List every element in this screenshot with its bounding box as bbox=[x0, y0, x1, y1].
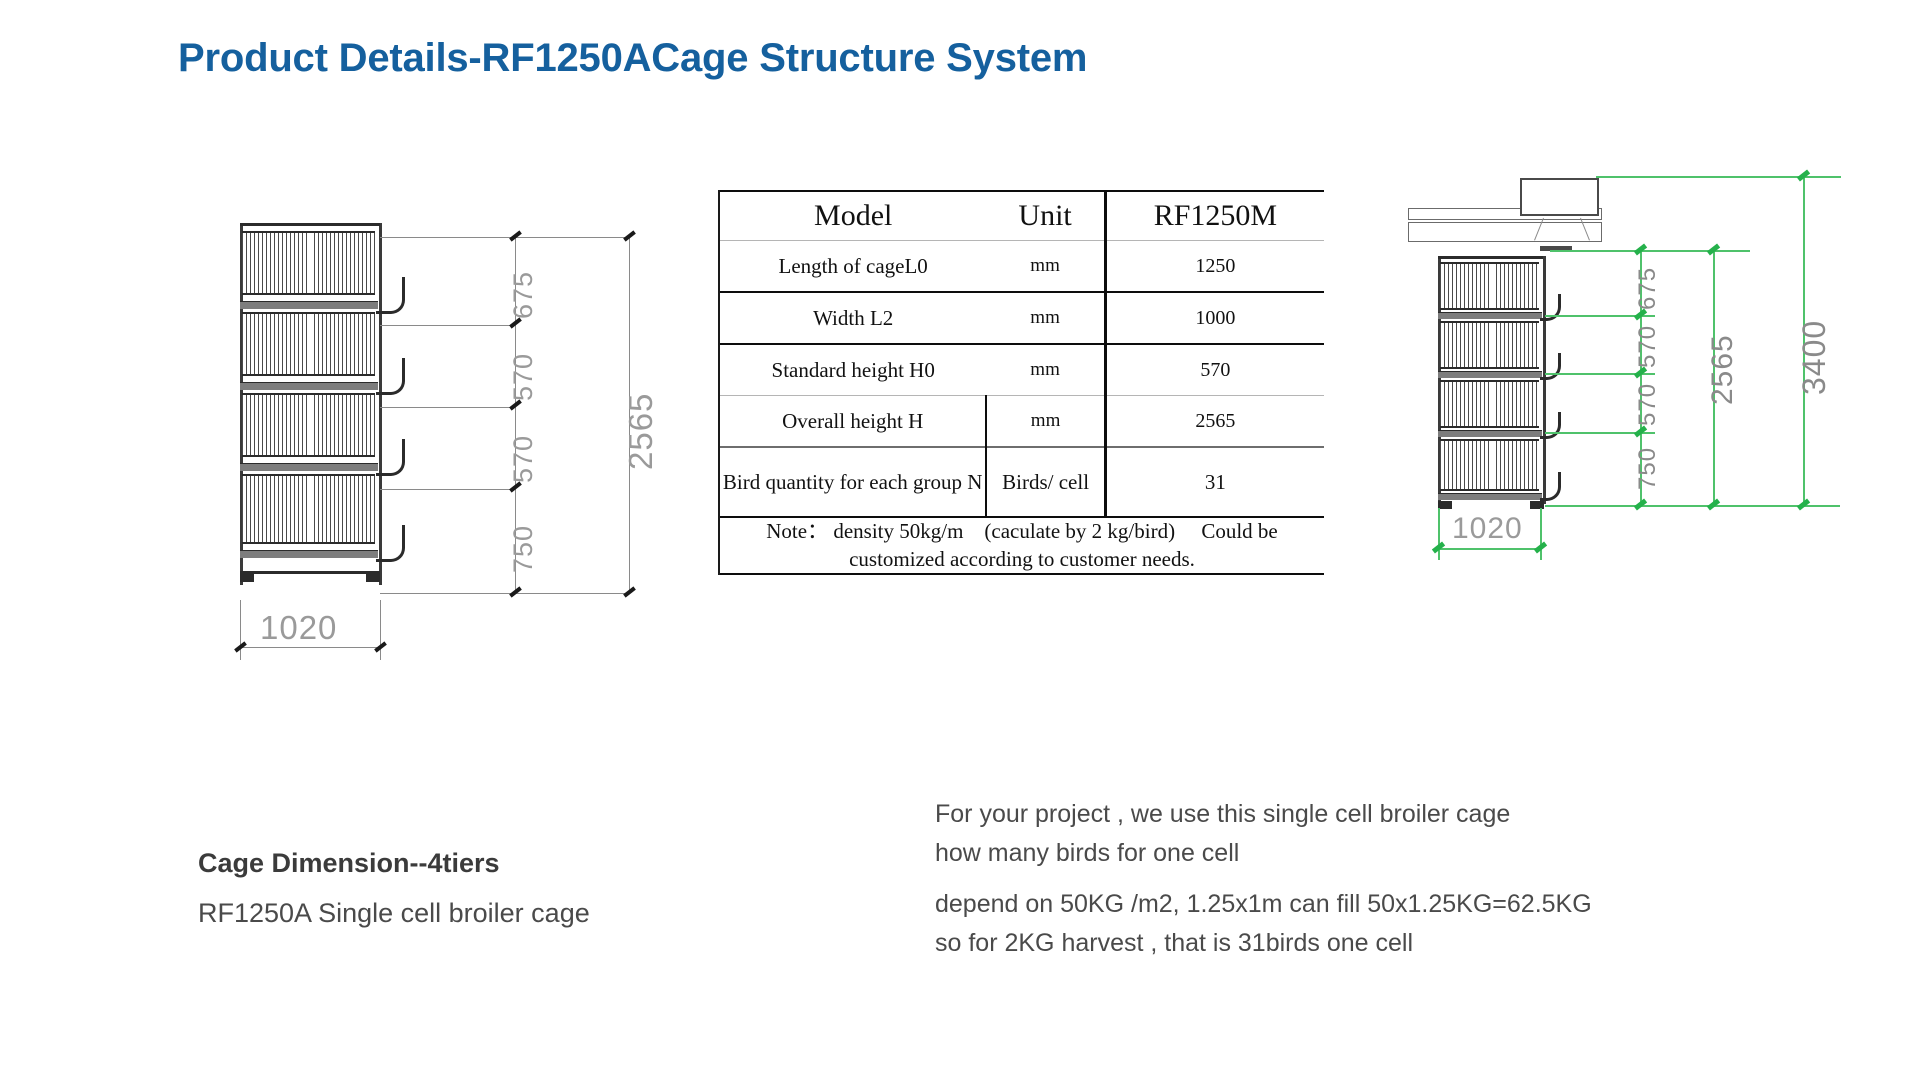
cell-unit: mm bbox=[986, 396, 1105, 448]
cage-hook-2 bbox=[376, 439, 405, 476]
header-unit: Unit bbox=[986, 191, 1105, 241]
paragraph-line-2: how many birds for one cell bbox=[935, 841, 1592, 866]
width-dim-line bbox=[240, 647, 381, 648]
cage-hook-3 bbox=[376, 358, 405, 395]
cage-foot-left-right bbox=[1438, 501, 1452, 509]
table-header-row: Model Unit RF1250M bbox=[720, 191, 1324, 241]
cage-top-rail-right bbox=[1438, 256, 1543, 259]
table-row: Length of cageL0 mm 1250 bbox=[720, 241, 1324, 293]
cage-tier-3 bbox=[242, 312, 375, 376]
cage-tier-2 bbox=[242, 393, 375, 457]
cell-value: 31 bbox=[1105, 447, 1324, 517]
dim-label-overall-2565-right: 2565 bbox=[1706, 334, 1740, 405]
dim-label-675-right: 675 bbox=[1634, 267, 1662, 310]
dim-label-1020-right: 1020 bbox=[1452, 512, 1523, 546]
cage-tier-1-right bbox=[1440, 439, 1539, 491]
cage-tier-3-right bbox=[1440, 321, 1539, 369]
page-title: Product Details-RF1250ACage Structure Sy… bbox=[178, 36, 1087, 81]
cell-model: Bird quantity for each group N bbox=[720, 447, 986, 517]
cage-foot-right bbox=[366, 574, 380, 582]
paragraph-line-1: For your project , we use this single ce… bbox=[935, 802, 1592, 827]
cell-unit: Birds/ cell bbox=[986, 447, 1105, 517]
header-value: RF1250M bbox=[1105, 191, 1324, 241]
cage-tier-4 bbox=[242, 231, 375, 295]
cage-tier-2-right bbox=[1440, 380, 1539, 428]
cage-tray-2 bbox=[240, 463, 378, 471]
green-ext-top bbox=[1550, 250, 1750, 252]
dim-label-3400-right: 3400 bbox=[1796, 320, 1833, 395]
table-row: Width L2 mm 1000 bbox=[720, 292, 1324, 344]
cage-hook-3-right bbox=[1540, 353, 1561, 380]
paragraph-line-4: so for 2KG harvest , that is 31birds one… bbox=[935, 931, 1592, 956]
cage-tray-2-right bbox=[1438, 430, 1542, 437]
extension-line-t2 bbox=[380, 489, 515, 490]
dim-label-1020-left: 1020 bbox=[260, 609, 337, 647]
cage-base-rail bbox=[240, 571, 380, 574]
cell-model: Standard height H0 bbox=[720, 344, 986, 396]
cage-hook-1-right bbox=[1540, 472, 1561, 501]
cage-hook-2-right bbox=[1540, 412, 1561, 439]
dim-label-570a-left: 570 bbox=[508, 435, 539, 483]
cell-model: Overall height H bbox=[720, 396, 986, 448]
table-row: Bird quantity for each group N Birds/ ce… bbox=[720, 447, 1324, 517]
dim-label-overall-2565-left: 2565 bbox=[622, 393, 660, 470]
cell-unit: mm bbox=[986, 241, 1105, 293]
dim-label-570a-right: 570 bbox=[1634, 383, 1662, 426]
explanation-paragraph: For your project , we use this single ce… bbox=[935, 802, 1592, 970]
extension-line-bottom bbox=[380, 593, 630, 594]
dim-label-750-left: 750 bbox=[508, 525, 539, 573]
dim-tick-overall-bottom bbox=[623, 586, 636, 597]
extension-line-t3 bbox=[380, 407, 515, 408]
width-ext-left bbox=[240, 600, 241, 660]
extension-line-t4 bbox=[380, 325, 515, 326]
table-row: Overall height H mm 2565 bbox=[720, 396, 1324, 448]
dim-tick-e bbox=[509, 586, 522, 597]
cell-value: 570 bbox=[1105, 344, 1324, 396]
left-cage-drawing: 750 570 570 675 2565 1020 bbox=[230, 215, 650, 635]
cage-tray-3 bbox=[240, 382, 378, 390]
dim-label-675-left: 675 bbox=[508, 271, 539, 319]
header-model: Model bbox=[720, 191, 986, 241]
cage-top-rail bbox=[240, 223, 380, 226]
overhead-rail-lower bbox=[1408, 222, 1602, 242]
cell-model: Width L2 bbox=[720, 292, 986, 344]
table-note-row: Note： density 50kg/m (caculate by 2 kg/b… bbox=[720, 517, 1324, 574]
cell-unit: mm bbox=[986, 292, 1105, 344]
dim-label-570b-left: 570 bbox=[508, 353, 539, 401]
extension-line-top bbox=[380, 237, 630, 238]
cage-hook-4-right bbox=[1540, 294, 1561, 321]
cell-unit: mm bbox=[986, 344, 1105, 396]
cell-value: 1250 bbox=[1105, 241, 1324, 293]
cage-tray-1-right bbox=[1438, 493, 1542, 500]
cage-tray-4 bbox=[240, 301, 378, 309]
cell-model: Length of cageL0 bbox=[720, 241, 986, 293]
caption-cage-dimension: Cage Dimension--4tiers bbox=[198, 848, 500, 879]
cage-foot-left bbox=[240, 574, 254, 582]
dim-label-570b-right: 570 bbox=[1634, 325, 1662, 368]
paragraph-line-3: depend on 50KG /m2, 1.25x1m can fill 50x… bbox=[935, 892, 1592, 917]
green-width-dim-line bbox=[1438, 548, 1542, 550]
specification-table: Model Unit RF1250M Length of cageL0 mm 1… bbox=[718, 190, 1324, 575]
green-width-ext-right bbox=[1540, 508, 1542, 560]
cage-tray-1 bbox=[240, 550, 378, 558]
cage-hook-1 bbox=[376, 525, 405, 562]
table-note: Note： density 50kg/m (caculate by 2 kg/b… bbox=[720, 517, 1324, 574]
table-bottom-border-row bbox=[720, 574, 1324, 575]
note-line-1: Note： density 50kg/m (caculate by 2 kg/b… bbox=[720, 518, 1324, 546]
table-bottom-border bbox=[720, 574, 1324, 575]
cell-value: 2565 bbox=[1105, 396, 1324, 448]
table-row: Standard height H0 mm 570 bbox=[720, 344, 1324, 396]
green-width-ext-left bbox=[1438, 508, 1440, 560]
cage-tray-4-right bbox=[1438, 312, 1542, 319]
cage-foot-right-right bbox=[1530, 501, 1544, 509]
feed-hopper bbox=[1520, 178, 1599, 216]
note-line-2: customized according to customer needs. bbox=[720, 546, 1324, 574]
slide-canvas: Product Details-RF1250ACage Structure Sy… bbox=[0, 0, 1920, 1079]
caption-model-name: RF1250A Single cell broiler cage bbox=[198, 898, 590, 929]
cell-value: 1000 bbox=[1105, 292, 1324, 344]
cage-tray-3-right bbox=[1438, 371, 1542, 378]
cage-tier-4-right bbox=[1440, 262, 1539, 310]
cage-hook-4 bbox=[376, 277, 405, 314]
width-ext-right bbox=[380, 600, 381, 660]
cage-tier-1 bbox=[242, 474, 375, 544]
right-cage-drawing: 750 570 570 675 2565 3400 1020 bbox=[1400, 160, 1870, 520]
dim-label-750-right: 750 bbox=[1634, 447, 1662, 490]
